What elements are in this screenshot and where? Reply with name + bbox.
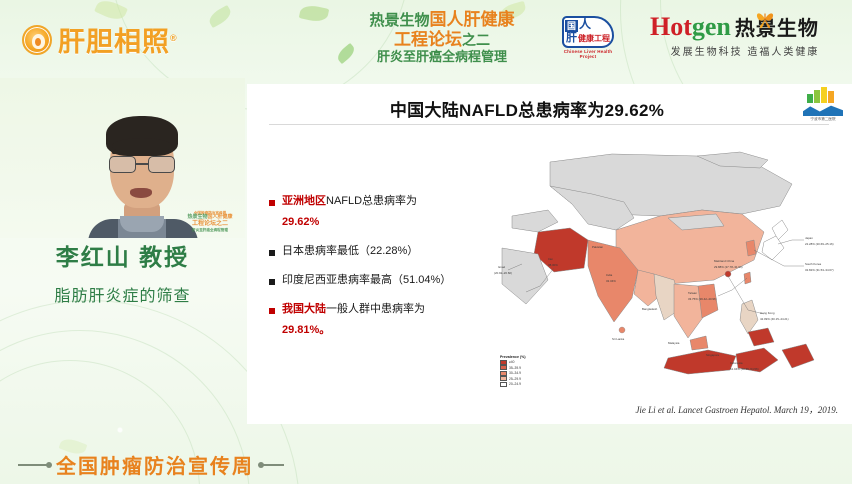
hotgen-wordmark: Hotgen 热景生物	[650, 14, 840, 40]
bullet-square-icon	[269, 250, 275, 256]
slide-title-divider	[269, 124, 829, 125]
brand-logo-label: 肝胆相照	[58, 27, 170, 57]
map-label-israel-value: (20.92–26.82)	[494, 271, 512, 275]
bullet-text: 印度尼西亚患病率最高（51.04%）	[282, 273, 451, 289]
bottom-banner: 全国肿瘤防治宣传周	[0, 438, 852, 484]
hospital-logo-wave	[803, 104, 843, 116]
map-legend-swatch	[500, 382, 507, 387]
clhp-liver-icon: 国 人 肝 健康工程	[562, 16, 614, 48]
video-watermark-line2-prefix: 热景生物	[187, 214, 207, 220]
asia-prevalence-map: Mainland China 29.88% (27.78–31.93) Japa…	[492, 144, 837, 399]
speaker-mouth	[130, 188, 152, 198]
map-legend-item: 35–39.9	[500, 365, 544, 370]
forum-title-line2: 工程论坛之二	[342, 30, 542, 49]
glasses-icon	[108, 156, 176, 174]
bullet-highlight: 我国大陆	[282, 303, 326, 315]
list-item: 亚洲地区NAFLD总患病率为29.62%	[269, 194, 479, 231]
hotgen-chinese: 热景生物	[735, 18, 819, 40]
bullet-value: 29.62%	[282, 215, 417, 231]
hospital-logo-bars	[806, 86, 840, 103]
forum-title-line1: 热景生物国人肝健康	[342, 10, 542, 30]
video-watermark-line2-highlight: 国人肝健康	[208, 214, 233, 220]
map-legend-label: ≥40	[509, 360, 514, 364]
list-item: 日本患病率最低（22.28%）	[269, 244, 479, 260]
bullet-text: 日本患病率最低（22.28%）	[282, 244, 418, 260]
speaker-eyebrow-right	[146, 151, 168, 154]
header-bar: 肝胆相照® 热景生物国人肝健康 工程论坛之二 肝炎至肝癌全病程管理 国 人 肝 …	[0, 0, 852, 76]
map-legend-item: 30–34.9	[500, 371, 544, 376]
speaker-caption: 李红山 教授 脂肪肝炎症的筛查	[0, 238, 245, 306]
hotgen-slogan: 发展生物科技 造福人类健康	[650, 43, 840, 58]
map-label-japan: Japan	[805, 236, 813, 240]
bottom-banner-inner: 全国肿瘤防治宣传周	[18, 450, 284, 479]
map-legend-swatch	[500, 360, 507, 365]
glasses-lens-right	[148, 156, 175, 173]
banner-dash-left	[18, 464, 48, 466]
hotgen-latin-red: Hot	[650, 12, 692, 41]
map-label-malaysia: Malaysia	[668, 341, 680, 345]
list-item: 我国大陆一般人群中患病率为29.81%。	[269, 302, 479, 339]
map-label-sri-lanka: Sri Lanka	[612, 337, 625, 341]
map-label-indonesia-value: 51.04% (48.55–54.56)	[730, 367, 759, 371]
map-label-iran: Iran	[548, 257, 553, 261]
slide-bullet-list: 亚洲地区NAFLD总患病率为29.62% 日本患病率最低（22.28%） 印度尼…	[269, 194, 479, 352]
map-label-japan-value: 22.28% (20.69–25.16)	[805, 242, 834, 246]
registered-mark: ®	[170, 33, 178, 43]
map-label-india: India	[606, 273, 613, 277]
glasses-bridge	[136, 163, 148, 165]
map-legend-label: 30–34.9	[509, 371, 521, 375]
forum-title-line2-main: 工程论坛	[394, 30, 462, 49]
glasses-lens-left	[109, 156, 136, 173]
map-label-pakistan: Pakistan	[592, 245, 603, 249]
hospital-logo-caption: 宁波市第二医院	[800, 117, 846, 122]
map-label-mainland-china-value: 29.88% (27.78–31.93)	[714, 265, 743, 269]
bullet-highlight: 亚洲地区	[282, 195, 326, 207]
map-label-south-korea-value: 32.82% (31.53–34.67)	[805, 268, 834, 272]
map-label-hong-kong-value: 42.09% (40.15–44.21)	[760, 317, 789, 321]
map-label-israel: Israel	[498, 265, 505, 269]
map-legend-label: 35–39.9	[509, 366, 521, 370]
brand-logo-text: 肝胆相照®	[58, 20, 178, 59]
map-label-singapore: Singapore	[706, 353, 720, 357]
map-region-south-korea	[746, 240, 756, 256]
map-region-indonesia	[664, 350, 736, 374]
list-item: 印度尼西亚患病率最高（51.04%）	[269, 273, 479, 289]
forum-title: 热景生物国人肝健康 工程论坛之二 肝炎至肝癌全病程管理	[342, 10, 542, 64]
map-legend-title: Prevalence (%)	[500, 355, 544, 359]
bullet-square-icon	[269, 308, 275, 314]
speaker-collar	[120, 216, 164, 232]
presentation-slide[interactable]: 中国大陆NAFLD总患病率为29.62% 宁波市第二医院 亚洲地区NAFLD总患…	[247, 84, 852, 424]
bullet-square-icon	[269, 200, 275, 206]
video-watermark-line4: 肝炎至肝癌全病程管理	[179, 228, 241, 232]
forum-title-line2-suffix: 之二	[462, 32, 490, 48]
map-label-south-korea: South Korea	[805, 262, 821, 266]
map-legend-swatch	[500, 365, 507, 370]
map-legend-label: 25–29.9	[509, 377, 521, 381]
speaker-eyebrow-left	[112, 151, 134, 154]
hotgen-logo: Hotgen 热景生物 发展生物科技 造福人类健康	[650, 14, 840, 58]
clhp-char-1: 国	[565, 20, 578, 32]
hotgen-latin: Hotgen	[650, 14, 731, 40]
map-legend: Prevalence (%) ≥40 35–39.9 30–34.9 25–29…	[500, 355, 544, 388]
speaker-name: 李红山 教授	[0, 238, 245, 272]
liver-emblem-icon	[22, 25, 52, 55]
bullet-text: 我国大陆一般人群中患病率为29.81%。	[282, 302, 425, 339]
bullet-value: 29.81%。	[282, 323, 425, 339]
speaker-video-feed[interactable]: 全国肿瘤防治宣传周 热景生物国人肝健康 工程论坛之二 肝炎至肝癌全病程管理	[0, 78, 245, 238]
map-legend-swatch	[500, 376, 507, 381]
slide-title: 中国大陆NAFLD总患病率为29.62%	[247, 96, 807, 121]
map-label-mainland-china: Mainland China	[714, 259, 734, 263]
map-legend-item: 20–24.9	[500, 382, 544, 387]
slide-citation: Jie Li et al. Lancet Gastroen Hepatol. M…	[635, 403, 838, 416]
map-legend-label: 20–24.9	[509, 382, 521, 386]
bullet-plain: 一般人群中患病率为	[326, 303, 425, 315]
bullet-text: 亚洲地区NAFLD总患病率为29.62%	[282, 194, 417, 231]
clhp-logo: 国 人 肝 健康工程 Chinese Liver Health Project	[560, 16, 616, 62]
map-label-bangladesh: Bangladesh	[642, 307, 658, 311]
map-region-taiwan	[744, 272, 751, 284]
forum-title-line1-highlight: 国人肝健康	[430, 10, 515, 29]
map-label-iran-value: 38.30%	[548, 263, 558, 267]
map-label-india-value: 32.34%	[606, 279, 616, 283]
video-watermark-line3: 工程论坛之二	[179, 221, 241, 228]
page-background: 肝胆相照® 热景生物国人肝健康 工程论坛之二 肝炎至肝癌全病程管理 国 人 肝 …	[0, 0, 852, 484]
map-label-indonesia: Indonesia	[730, 361, 743, 365]
bullet-plain: NAFLD总患病率为	[326, 195, 417, 207]
clhp-char-4: 健康工程	[578, 34, 610, 44]
clhp-char-2: 人	[579, 18, 591, 30]
map-legend-swatch	[500, 371, 507, 376]
banner-dash-right	[262, 464, 284, 466]
butterfly-icon	[754, 8, 776, 30]
map-label-hong-kong: Hong Kong	[760, 311, 775, 315]
bullet-square-icon	[269, 279, 275, 285]
brand-logo-gandanxiangzhao: 肝胆相照®	[22, 20, 178, 59]
clhp-char-3: 肝	[566, 32, 577, 44]
map-label-taiwan: Taiwan	[688, 291, 697, 295]
speaker-topic: 脂肪肝炎症的筛查	[0, 282, 245, 306]
video-watermark: 全国肿瘤防治宣传周 热景生物国人肝健康 工程论坛之二 肝炎至肝癌全病程管理	[179, 211, 241, 232]
forum-title-line1-prefix: 热景生物	[369, 12, 429, 29]
map-legend-item: ≥40	[500, 360, 544, 365]
hospital-logo: 宁波市第二医院	[800, 86, 846, 122]
forum-title-line3: 肝炎至肝癌全病程管理	[342, 50, 542, 65]
map-label-taiwan-value: 33.75% (29.42–40.96)	[688, 297, 717, 301]
clhp-subtitle: Chinese Liver Health Project	[560, 49, 616, 59]
speaker-hair	[106, 116, 178, 156]
map-legend-item: 25–29.9	[500, 376, 544, 381]
bottom-banner-text: 全国肿瘤防治宣传周	[56, 450, 254, 479]
hotgen-latin-green: gen	[692, 12, 731, 41]
